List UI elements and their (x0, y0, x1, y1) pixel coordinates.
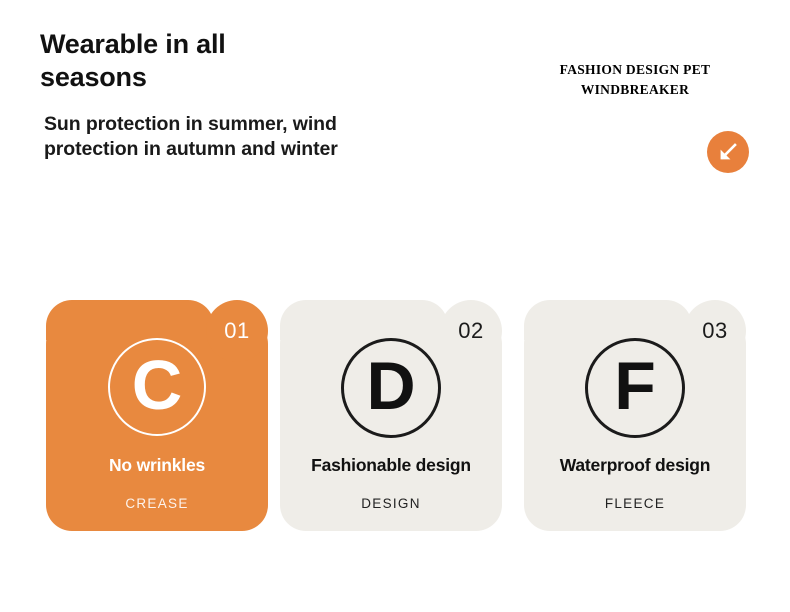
feature-card-1[interactable]: 01 C No wrinkles CREASE (46, 300, 268, 531)
card-letter-medallion: F (585, 338, 685, 438)
feature-card-2[interactable]: 02 D Fashionable design DESIGN (280, 300, 502, 531)
arrow-down-left-icon[interactable] (707, 131, 749, 173)
card-top-strip (280, 300, 448, 340)
card-subtitle: DESIGN (280, 496, 502, 511)
feature-cards-row: 01 C No wrinkles CREASE 02 D Fashionable… (0, 300, 790, 535)
card-title: No wrinkles (46, 455, 268, 476)
card-top-strip (46, 300, 214, 340)
page-title: Wearable in all seasons (40, 28, 470, 94)
card-letter: C (132, 350, 183, 420)
card-number-label: 01 (224, 320, 249, 342)
card-subtitle: FLEECE (524, 496, 746, 511)
card-title: Fashionable design (280, 455, 502, 476)
card-letter-medallion: C (108, 338, 206, 436)
card-letter: F (614, 352, 656, 420)
brand-label: FASHION DESIGN PET WINDBREAKER (520, 60, 750, 99)
card-number-label: 03 (702, 320, 727, 342)
card-title: Waterproof design (524, 455, 746, 476)
card-letter-medallion: D (341, 338, 441, 438)
card-letter: D (366, 352, 415, 420)
card-subtitle: CREASE (46, 496, 268, 511)
page-subtitle: Sun protection in summer, wind protectio… (44, 112, 464, 162)
card-number-badge: 02 (440, 300, 502, 362)
card-number-badge: 03 (684, 300, 746, 362)
header-area: Wearable in all seasons Sun protection i… (0, 0, 790, 200)
card-number-label: 02 (458, 320, 483, 342)
card-top-strip (524, 300, 692, 340)
card-number-badge: 01 (206, 300, 268, 362)
feature-card-3[interactable]: 03 F Waterproof design FLEECE (524, 300, 746, 531)
